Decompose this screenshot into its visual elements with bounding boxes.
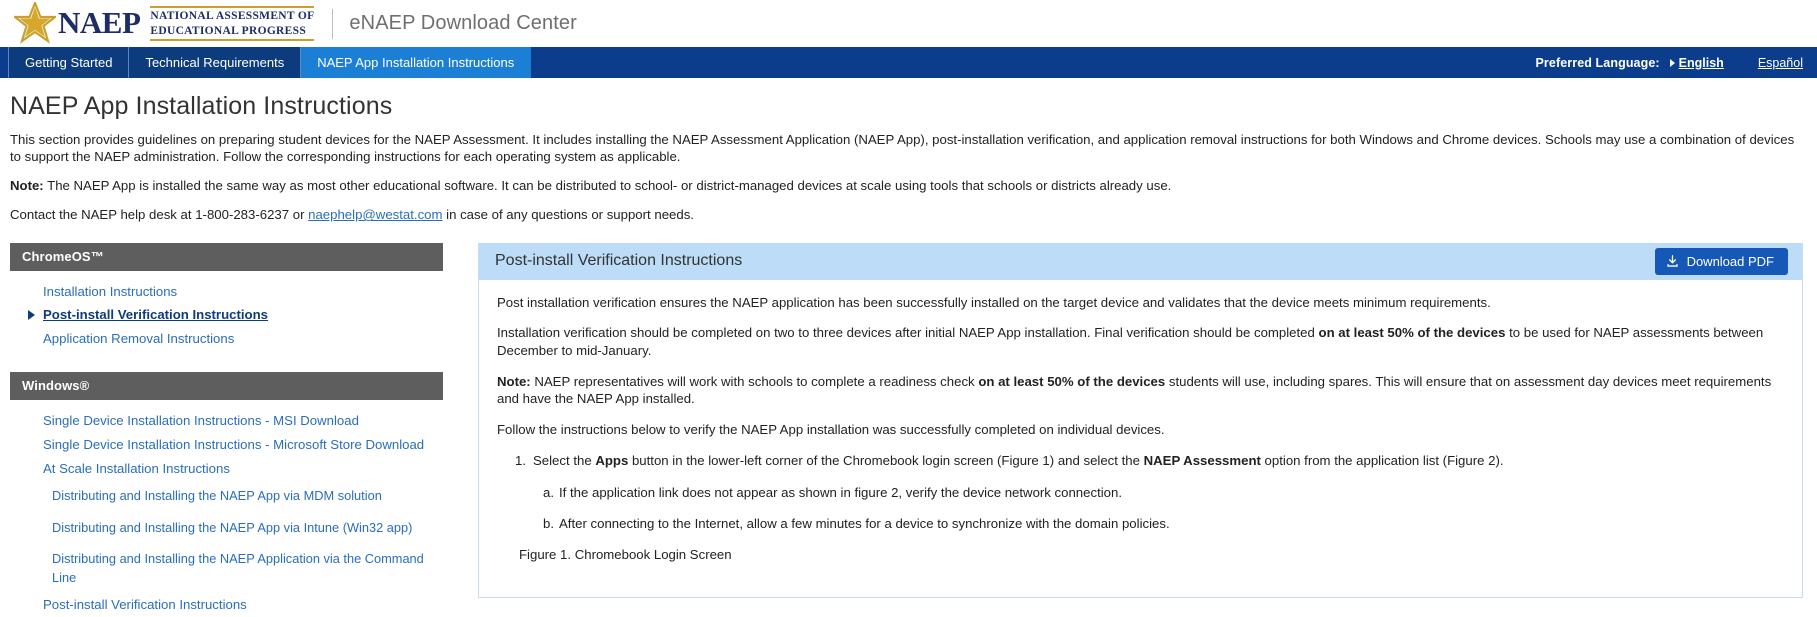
step1-part2: button in the lower-left corner of the C… <box>628 453 1143 468</box>
nav-tab-list: Getting Started Technical Requirements N… <box>0 47 531 78</box>
content-paragraph-3: Follow the instructions below to verify … <box>497 421 1784 439</box>
intro-section: NAEP App Installation Instructions This … <box>0 78 1817 224</box>
tab-technical-requirements[interactable]: Technical Requirements <box>129 47 301 78</box>
intro-paragraph-1: This section provides guidelines on prep… <box>10 131 1803 166</box>
step1-bold-apps: Apps <box>595 453 628 468</box>
content-panel: Post-install Verification Instructions D… <box>478 243 1803 598</box>
content-paragraph-2-bold: on at least 50% of the devices <box>1319 325 1506 340</box>
sidebar-item-windows-command-line[interactable]: Distributing and Installing the NAEP App… <box>10 543 443 593</box>
step1-part3: option from the application list (Figure… <box>1261 453 1504 468</box>
sidebar-item-label: Single Device Installation Instructions … <box>43 435 424 455</box>
sidebar: ChromeOS™ Installation Instructions Post… <box>0 243 443 617</box>
sidebar-item-windows-at-scale-installation[interactable]: At Scale Installation Instructions <box>10 457 443 481</box>
sidebar-item-label: Distributing and Installing the NAEP App… <box>52 486 382 505</box>
sidebar-item-label: Post-install Verification Instructions <box>43 595 247 615</box>
download-pdf-button[interactable]: Download PDF <box>1655 248 1788 275</box>
sidebar-item-windows-single-device-microsoft-store[interactable]: Single Device Installation Instructions … <box>10 433 443 457</box>
intro-contact: Contact the NAEP help desk at 1-800-283-… <box>10 206 1803 223</box>
instruction-step-1: Select the Apps button in the lower-left… <box>533 452 1784 533</box>
naep-logo[interactable]: NAEP NATIONAL ASSESSMENT OF EDUCATIONAL … <box>14 0 314 47</box>
caret-right-icon <box>1670 59 1675 67</box>
language-selector: Preferred Language: English Español <box>1536 47 1817 78</box>
sidebar-item-label: Distributing and Installing the NAEP App… <box>52 549 443 587</box>
content-paragraph-2: Installation verification should be comp… <box>497 324 1784 359</box>
page-title: NAEP App Installation Instructions <box>10 92 1803 121</box>
step1-part1: Select the <box>533 453 595 468</box>
content-panel-header: Post-install Verification Instructions D… <box>479 243 1802 280</box>
logo-tagline-line2: EDUCATIONAL PROGRESS <box>150 24 314 38</box>
sidebar-item-windows-single-device-msi[interactable]: Single Device Installation Instructions … <box>10 409 443 433</box>
sidebar-item-chromeos-post-install-verification-instructions[interactable]: Post-install Verification Instructions <box>10 303 443 327</box>
sidebar-group-heading-windows: Windows® <box>10 372 443 400</box>
star-icon <box>14 2 56 46</box>
instruction-step-1a: If the application link does not appear … <box>559 484 1784 502</box>
sidebar-item-windows-intune-win32[interactable]: Distributing and Installing the NAEP App… <box>10 512 443 543</box>
content-note-part1: NAEP representatives will work with scho… <box>531 374 979 389</box>
instruction-steps: Select the Apps button in the lower-left… <box>497 452 1784 533</box>
content-note-label: Note: <box>497 374 531 389</box>
masthead-divider <box>332 9 333 39</box>
masthead: NAEP NATIONAL ASSESSMENT OF EDUCATIONAL … <box>0 0 1817 47</box>
sidebar-item-windows-post-install-verification[interactable]: Post-install Verification Instructions <box>10 593 443 617</box>
intro-note-text: The NAEP App is installed the same way a… <box>47 178 1171 193</box>
content-body: Post installation verification ensures t… <box>479 280 1802 572</box>
sidebar-group-heading-chromeos: ChromeOS™ <box>10 243 443 271</box>
sidebar-item-label: Distributing and Installing the NAEP App… <box>52 518 412 537</box>
logo-tagline-line1: NATIONAL ASSESSMENT OF <box>150 9 314 23</box>
logo-tagline: NATIONAL ASSESSMENT OF EDUCATIONAL PROGR… <box>150 6 314 40</box>
sidebar-item-label: Post-install Verification Instructions <box>43 305 268 325</box>
sidebar-item-label: At Scale Installation Instructions <box>43 459 230 479</box>
intro-note: Note: The NAEP App is installed the same… <box>10 177 1803 194</box>
intro-note-label: Note: <box>10 178 44 193</box>
content-note-bold: on at least 50% of the devices <box>978 374 1165 389</box>
figure-1-caption: Figure 1. Chromebook Login Screen <box>519 547 1784 562</box>
app-title: eNAEP Download Center <box>349 12 576 35</box>
content-paragraph-1: Post installation verification ensures t… <box>497 294 1784 312</box>
sidebar-item-label: Installation Instructions <box>43 282 177 302</box>
primary-navbar: Getting Started Technical Requirements N… <box>0 47 1817 78</box>
download-icon <box>1666 255 1679 268</box>
sidebar-item-chromeos-installation-instructions[interactable]: Installation Instructions <box>10 280 443 304</box>
tab-getting-started[interactable]: Getting Started <box>8 47 129 78</box>
instruction-step-1b: After connecting to the Internet, allow … <box>559 515 1784 533</box>
step1-bold-naep-assessment: NAEP Assessment <box>1144 453 1261 468</box>
intro-contact-prefix: Contact the NAEP help desk at 1-800-283-… <box>10 207 308 222</box>
content-paragraph-2-part1: Installation verification should be comp… <box>497 325 1319 340</box>
tab-naep-app-installation-instructions[interactable]: NAEP App Installation Instructions <box>301 47 531 78</box>
sidebar-item-label: Single Device Installation Instructions … <box>43 411 359 431</box>
help-desk-email-link[interactable]: naephelp@westat.com <box>308 207 442 222</box>
sidebar-item-windows-mdm-solution[interactable]: Distributing and Installing the NAEP App… <box>10 480 443 511</box>
language-espanol-label: Español <box>1758 56 1803 70</box>
instruction-substeps: If the application link does not appear … <box>533 484 1784 533</box>
language-espanol[interactable]: Español <box>1758 56 1803 70</box>
triangle-right-icon <box>28 310 35 320</box>
preferred-language-label: Preferred Language: <box>1536 56 1660 70</box>
download-pdf-label: Download PDF <box>1687 254 1774 269</box>
logo-letters: NAEP <box>58 7 140 40</box>
sidebar-item-label: Application Removal Instructions <box>43 329 234 349</box>
intro-contact-suffix: in case of any questions or support need… <box>443 207 694 222</box>
body-wrapper: ChromeOS™ Installation Instructions Post… <box>0 235 1817 617</box>
content-heading: Post-install Verification Instructions <box>495 252 742 270</box>
sidebar-group-body-chromeos: Installation Instructions Post-install V… <box>10 271 443 360</box>
sidebar-group-gap <box>10 360 443 372</box>
content-note: Note: NAEP representatives will work wit… <box>497 373 1784 408</box>
sidebar-item-chromeos-application-removal-instructions[interactable]: Application Removal Instructions <box>10 327 443 351</box>
language-english[interactable]: English <box>1670 56 1724 70</box>
language-english-label: English <box>1679 56 1724 70</box>
sidebar-group-body-windows: Single Device Installation Instructions … <box>10 400 443 617</box>
